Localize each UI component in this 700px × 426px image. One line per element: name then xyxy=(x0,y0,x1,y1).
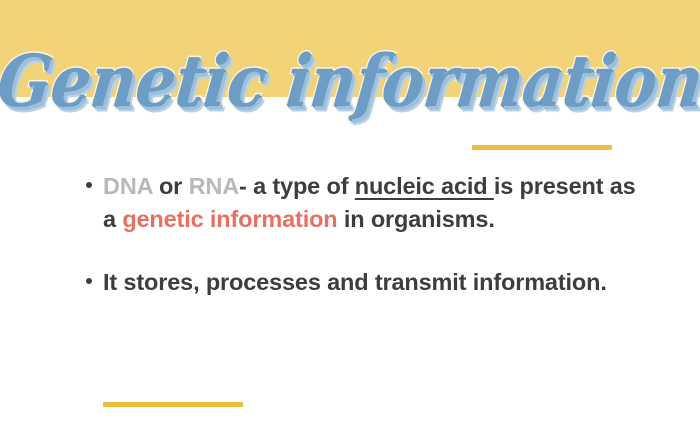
text-run-accent: genetic information xyxy=(122,206,337,232)
list-item: DNA or RNA- a type of nucleic acid is pr… xyxy=(82,170,642,235)
header-band xyxy=(0,0,700,97)
list-item: It stores, processes and transmit inform… xyxy=(82,266,642,299)
text-run-muted: RNA xyxy=(189,173,239,199)
text-run-muted: DNA xyxy=(103,173,153,199)
list-item-text: It stores, processes and transmit inform… xyxy=(103,269,607,295)
bullet-dot-icon xyxy=(86,278,92,284)
text-run-normal: It stores, processes and transmit inform… xyxy=(103,269,607,295)
divider-bottom-left xyxy=(103,402,243,407)
bullet-list: DNA or RNA- a type of nucleic acid is pr… xyxy=(82,170,642,299)
text-run-normal: in organisms. xyxy=(338,206,495,232)
bullet-dot-icon xyxy=(86,182,92,188)
slide-canvas: Genetic information DNA or RNA- a type o… xyxy=(0,0,700,426)
divider-top-right xyxy=(472,145,612,150)
text-run-normal: - a type of xyxy=(239,173,355,199)
list-item-text: DNA or RNA- a type of nucleic acid is pr… xyxy=(103,173,636,232)
text-run-underline: nucleic acid xyxy=(355,173,494,199)
text-run-normal: or xyxy=(153,173,189,199)
